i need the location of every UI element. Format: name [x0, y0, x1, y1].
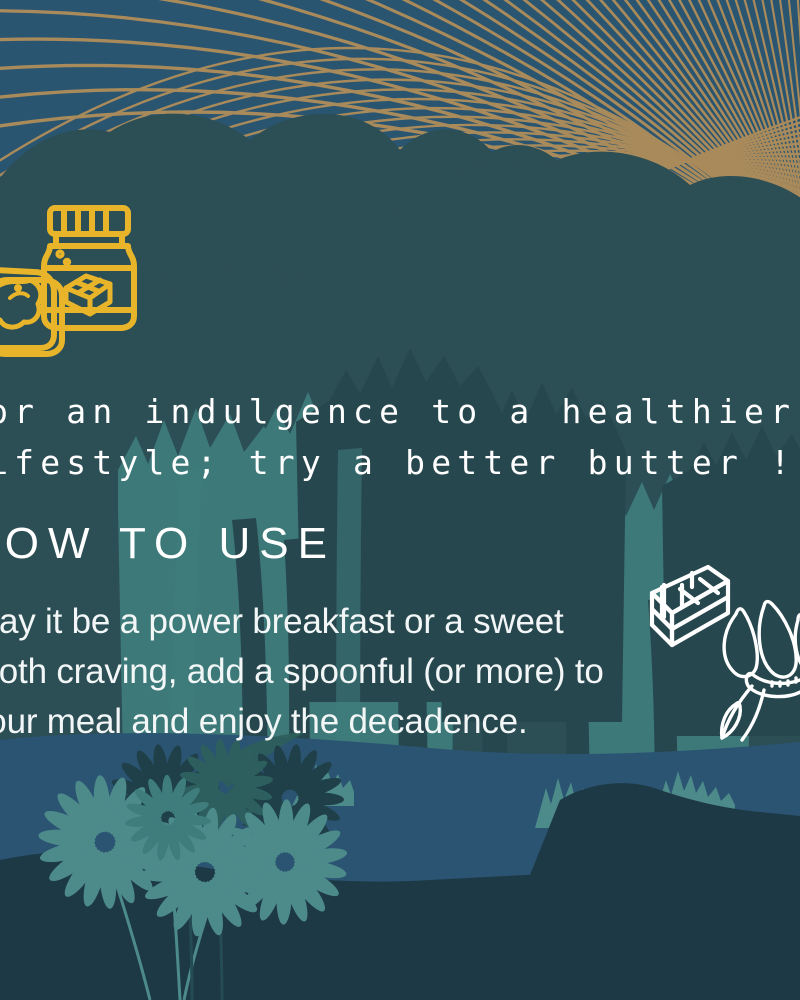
flower-petal-center: [759, 602, 796, 678]
spread-highlight: [10, 293, 28, 298]
body-line-2: tooth craving, add a spoonful (or more) …: [0, 647, 690, 697]
poster-canvas: for an indulgence to a healthier lifesty…: [0, 0, 800, 1000]
flower-petal-left: [724, 609, 757, 677]
body-line-1: May it be a power breakfast or a sweet: [0, 597, 690, 647]
tagline-line-1: for an indulgence to a healthier: [0, 386, 800, 437]
spread-jar-and-bread-icon: [0, 192, 163, 364]
jar-bubble-2: [65, 260, 69, 264]
jar-lid-ridges: [64, 209, 106, 233]
flower-stem-right: [742, 690, 764, 740]
body-text-block: May it be a power breakfast or a sweet t…: [0, 597, 690, 747]
spread-dot: [16, 286, 20, 290]
body-line-3: your meal and enjoy the decadence.: [0, 697, 690, 747]
jar-bubble-1: [57, 251, 62, 256]
tagline-block: for an indulgence to a healthier lifesty…: [0, 386, 800, 488]
botanical-flower-line-icon: [718, 598, 800, 743]
tagline-line-2: lifestyle; try a better butter !: [0, 437, 800, 488]
daisy-flowers-layer: [0, 0, 800, 1000]
section-heading-how-to-use: HOW TO USE: [0, 519, 336, 569]
